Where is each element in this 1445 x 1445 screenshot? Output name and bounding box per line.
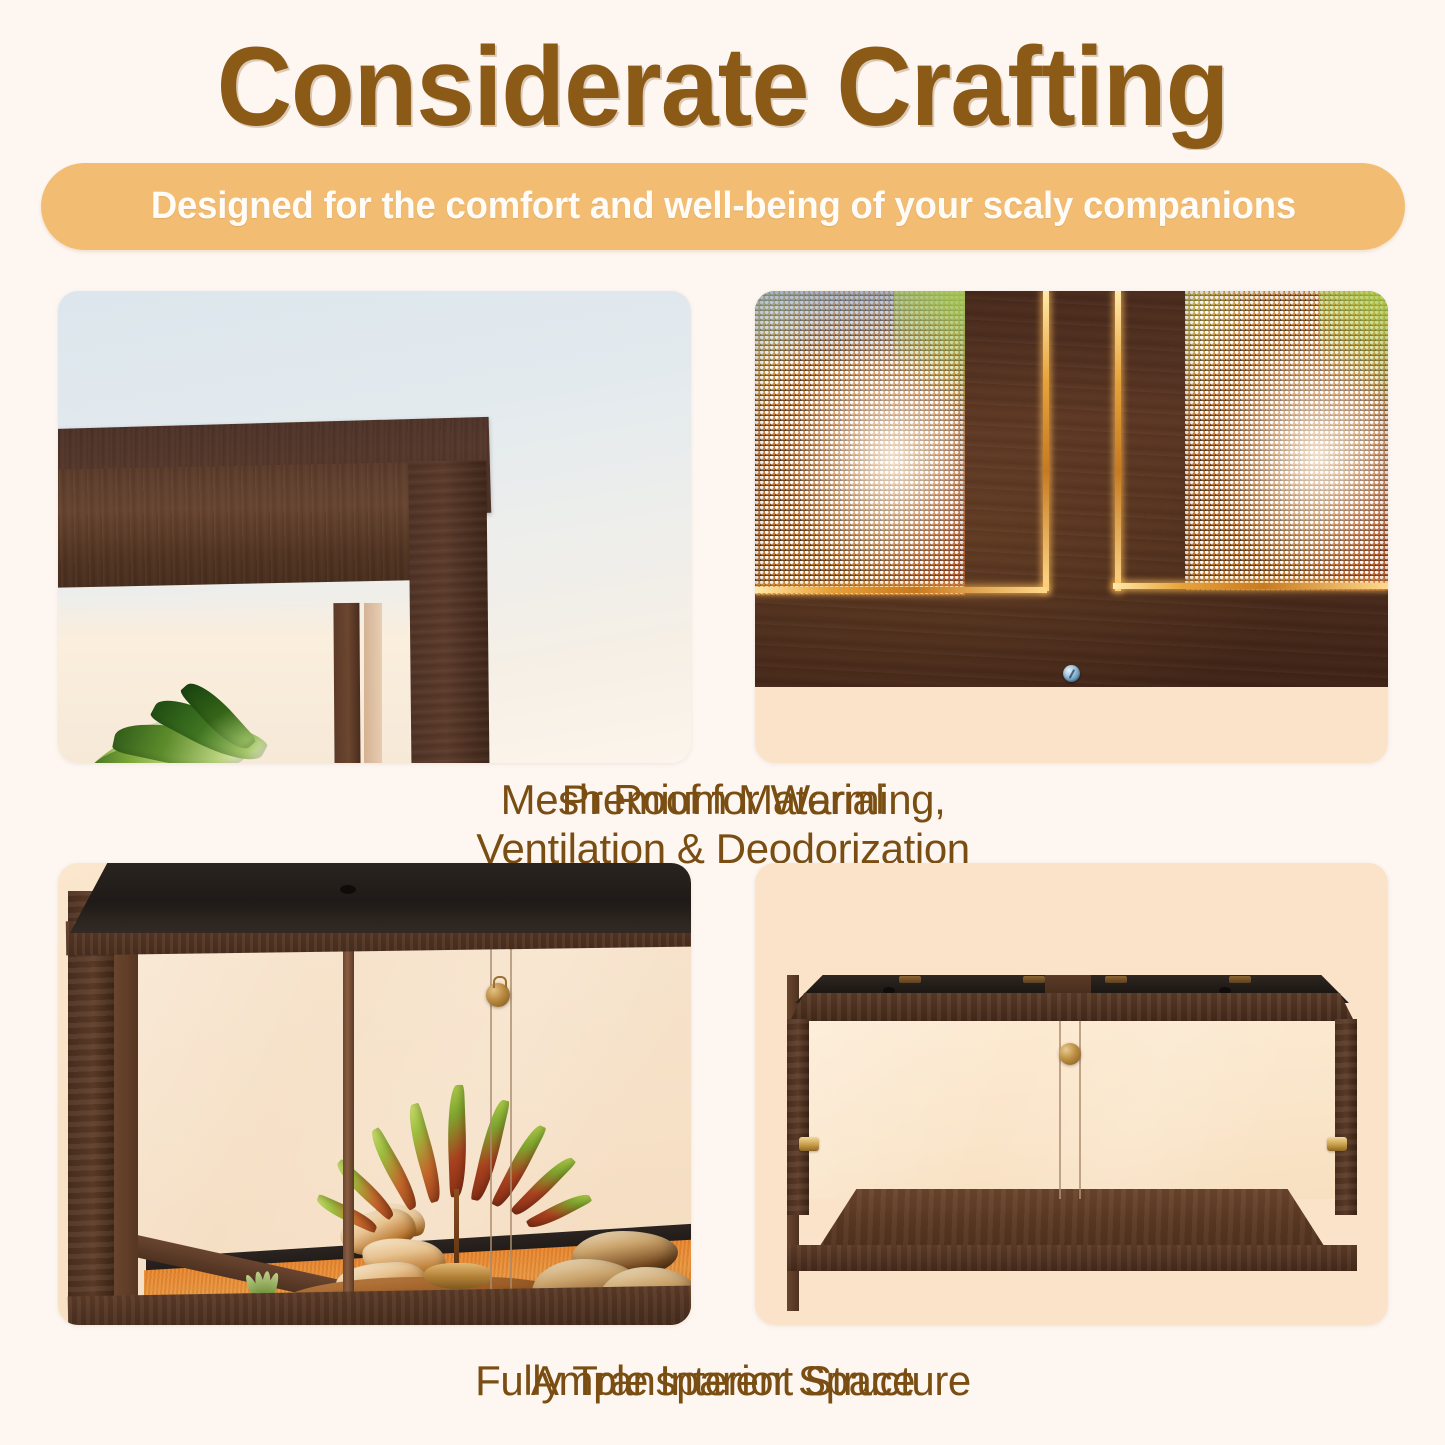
caption-mesh-roof: Mesh Roof for Warming, Ventilation & Deo… [58,775,1388,873]
wood-inner-leg [333,602,360,763]
feature-panel-mesh-roof [755,291,1388,763]
plant-leaf [446,1085,468,1198]
gold-trim-vertical [1043,291,1049,591]
door-latch-knob[interactable] [486,983,510,1007]
frame-post-right [1335,1019,1357,1215]
side-hinge-knob-right[interactable] [1327,1137,1347,1151]
mesh-sky-tint [755,291,965,370]
mesh-panel-right [1185,291,1388,591]
photo-mesh-roof [755,291,1388,763]
page-title: Considerate Crafting [51,26,1395,148]
gold-trim-vertical [1115,291,1121,591]
lid-hinge [899,976,921,983]
screw-icon [1063,665,1080,682]
lid-hinge [1229,976,1251,983]
frame-post-left [787,1019,809,1215]
terrarium-plant [346,1045,576,1275]
wall-strip [364,603,382,763]
feature-panel-transparent-structure [58,863,691,1325]
lid-vent-hole [1219,987,1231,994]
terrarium-front-view [787,975,1357,1263]
plant-base [424,1263,492,1289]
subtitle-banner: Designed for the comfort and well-being … [41,163,1405,250]
feature-panel-interior-space [755,863,1388,1325]
gold-trim-horizontal [1113,583,1388,589]
lid-vent-hole [883,987,895,994]
frame-post-inner [114,915,138,1315]
gold-trim-horizontal [755,587,1047,593]
photo-premium-material [58,291,691,763]
mesh-top-lid [70,863,691,933]
lid-hinge [1105,976,1127,983]
side-hinge-knob-left[interactable] [799,1137,819,1151]
center-door-divider [343,925,354,1325]
houseplant [58,643,284,763]
photo-transparent-structure [58,863,691,1325]
mesh-panel-left [755,291,965,596]
wood-corner-post [408,461,489,763]
door-latch-knob[interactable] [1059,1043,1081,1065]
door-seam [510,925,512,1325]
lid-hinge [1023,976,1045,983]
base-board [787,1245,1357,1271]
feature-panel-premium-material [58,291,691,763]
caption-interior-space: Ample Interior Space [58,1356,1388,1405]
feature-grid: Premium Material Mesh Roof for Warming, … [58,291,1388,1411]
mesh-foliage-tint [894,291,965,437]
mesh-foliage-tint [1319,291,1388,435]
wood-board-front [58,462,419,588]
photo-interior-space [755,863,1388,1325]
subtitle-text: Designed for the comfort and well-being … [150,185,1295,228]
lid-vent-hole [340,885,356,894]
